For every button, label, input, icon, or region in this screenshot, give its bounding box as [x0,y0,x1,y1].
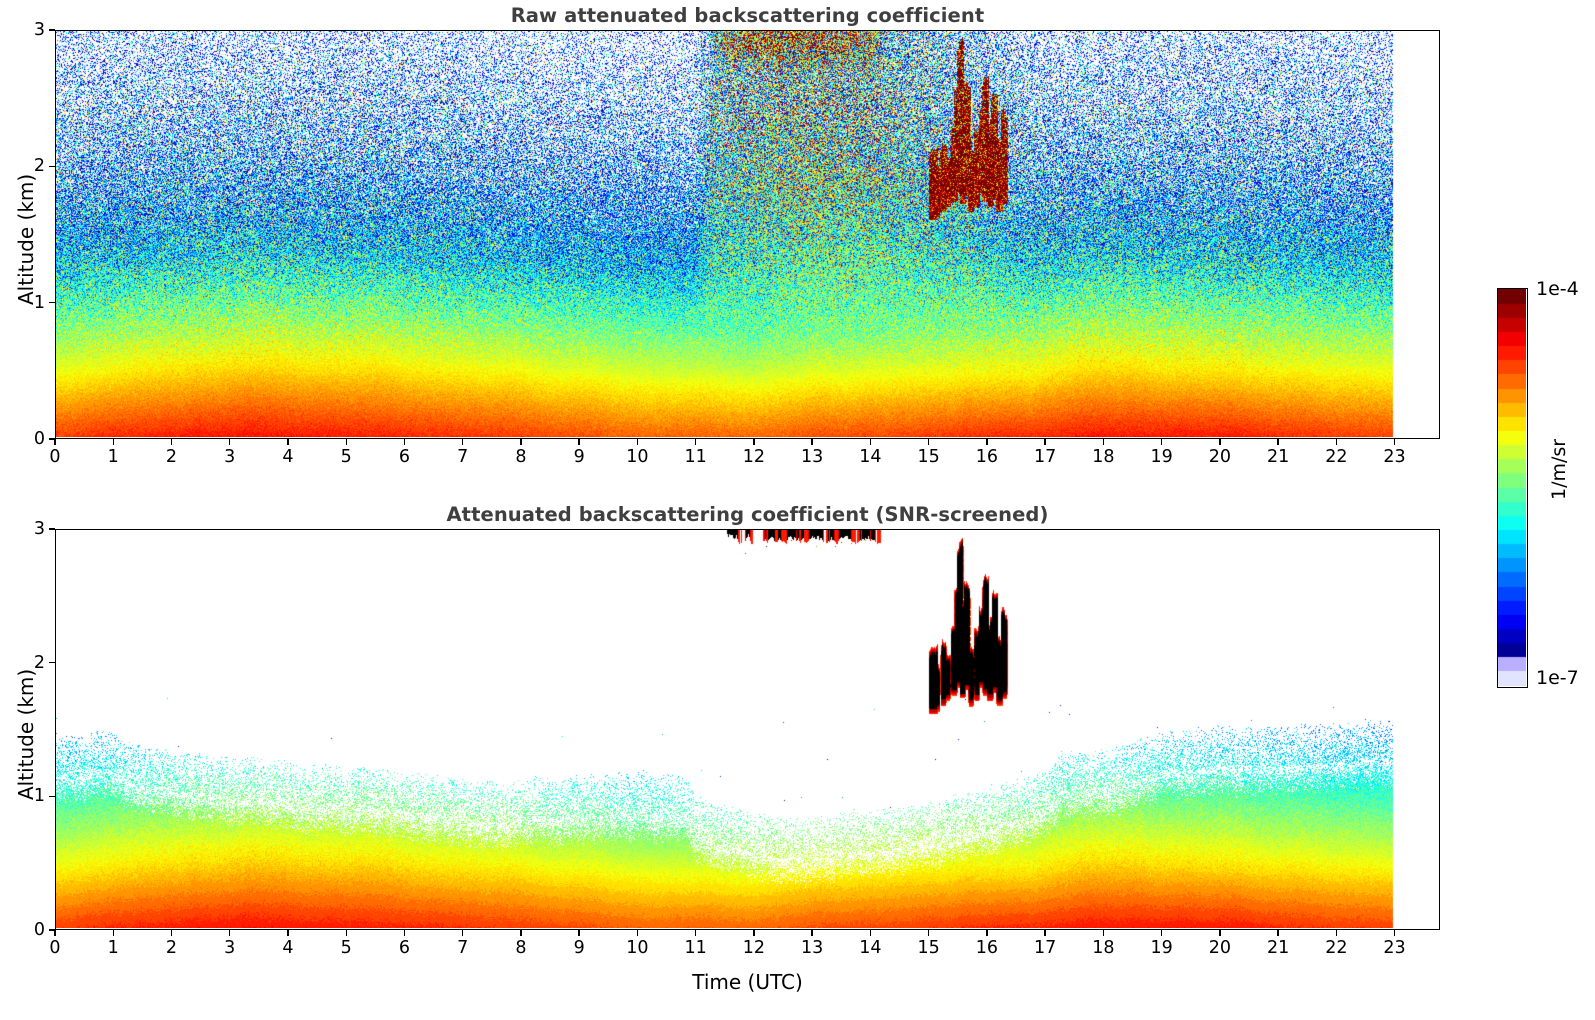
x-tick-0-2 [171,439,172,445]
x-ticklabel-0-6: 6 [399,447,410,467]
x-ticklabel-0-12: 12 [743,447,765,467]
x-tick-1-14 [870,930,871,936]
y-ticklabel-1-2: 2 [21,653,45,673]
x-tick-1-6 [404,930,405,936]
y-ticklabel-0-1: 1 [21,293,45,313]
x-tick-1-16 [986,930,987,936]
y-ticklabel-0-2: 2 [21,156,45,176]
x-tick-1-5 [346,930,347,936]
x-tick-1-7 [462,930,463,936]
x-ticklabel-0-0: 0 [49,447,60,467]
x-tick-0-16 [986,439,987,445]
x-ticklabel-0-22: 22 [1325,447,1347,467]
y-axis-label-bottom: Altitude (km) [14,669,38,800]
x-tick-1-17 [1044,930,1045,936]
raw-backscatter-heatmap [56,31,1438,437]
x-ticklabel-1-1: 1 [108,938,119,958]
x-ticklabel-1-21: 21 [1267,938,1289,958]
x-tick-0-5 [346,439,347,445]
x-ticklabel-1-19: 19 [1150,938,1172,958]
x-tick-0-15 [928,439,929,445]
x-tick-1-1 [113,930,114,936]
y-tick-1-3 [49,528,55,529]
x-tick-0-21 [1277,439,1278,445]
x-tick-1-0 [54,930,55,936]
screened-backscatter-plot[interactable] [55,529,1440,930]
x-ticklabel-1-22: 22 [1325,938,1347,958]
x-tick-1-18 [1103,930,1104,936]
x-ticklabel-0-5: 5 [341,447,352,467]
x-ticklabel-1-3: 3 [224,938,235,958]
x-axis-label: Time (UTC) [55,970,1440,994]
x-tick-0-18 [1103,439,1104,445]
x-tick-0-13 [811,439,812,445]
x-tick-1-21 [1277,930,1278,936]
x-tick-1-23 [1394,930,1395,936]
x-ticklabel-0-18: 18 [1092,447,1114,467]
x-tick-0-14 [870,439,871,445]
x-ticklabel-1-11: 11 [685,938,707,958]
x-ticklabel-0-23: 23 [1383,447,1405,467]
x-ticklabel-1-15: 15 [917,938,939,958]
x-tick-0-22 [1336,439,1337,445]
x-ticklabel-1-6: 6 [399,938,410,958]
x-ticklabel-0-8: 8 [515,447,526,467]
x-tick-0-1 [113,439,114,445]
y-tick-1-2 [49,662,55,663]
colorbar-min-label: 1e-7 [1536,667,1579,689]
x-ticklabel-0-16: 16 [976,447,998,467]
x-ticklabel-0-1: 1 [108,447,119,467]
x-tick-1-15 [928,930,929,936]
x-ticklabel-0-4: 4 [282,447,293,467]
x-ticklabel-1-4: 4 [282,938,293,958]
x-ticklabel-1-9: 9 [574,938,585,958]
x-tick-0-8 [520,439,521,445]
x-ticklabel-1-5: 5 [341,938,352,958]
panel-title-raw: Raw attenuated backscattering coefficien… [55,4,1440,27]
x-tick-0-10 [637,439,638,445]
lidar-backscatter-figure: Raw attenuated backscattering coefficien… [0,0,1595,1020]
x-ticklabel-1-12: 12 [743,938,765,958]
y-tick-0-3 [49,29,55,30]
x-ticklabel-0-10: 10 [626,447,648,467]
x-tick-0-6 [404,439,405,445]
x-ticklabel-1-10: 10 [626,938,648,958]
x-ticklabel-1-16: 16 [976,938,998,958]
x-tick-1-13 [811,930,812,936]
x-ticklabel-0-19: 19 [1150,447,1172,467]
x-ticklabel-1-0: 0 [49,938,60,958]
x-ticklabel-0-2: 2 [166,447,177,467]
x-tick-1-9 [578,930,579,936]
x-tick-0-11 [695,439,696,445]
colorbar[interactable] [1497,288,1528,688]
y-ticklabel-1-0: 0 [21,920,45,940]
x-tick-0-23 [1394,439,1395,445]
y-ticklabel-1-3: 3 [21,519,45,539]
x-ticklabel-0-15: 15 [917,447,939,467]
panel-title-screened: Attenuated backscattering coefficient (S… [55,503,1440,526]
x-tick-0-7 [462,439,463,445]
x-ticklabel-0-20: 20 [1209,447,1231,467]
x-tick-0-17 [1044,439,1045,445]
x-tick-1-10 [637,930,638,936]
x-tick-0-12 [753,439,754,445]
x-ticklabel-1-20: 20 [1209,938,1231,958]
x-ticklabel-1-14: 14 [859,938,881,958]
x-ticklabel-0-14: 14 [859,447,881,467]
y-ticklabel-0-3: 3 [21,20,45,40]
x-tick-1-19 [1161,930,1162,936]
colorbar-max-label: 1e-4 [1536,278,1579,300]
x-tick-0-20 [1219,439,1220,445]
x-tick-1-22 [1336,930,1337,936]
y-tick-1-1 [49,796,55,797]
colorbar-unit-label: 1/m/sr [1548,439,1570,500]
x-tick-1-4 [287,930,288,936]
x-tick-0-9 [578,439,579,445]
x-tick-0-19 [1161,439,1162,445]
y-tick-1-0 [49,929,55,930]
x-tick-1-3 [229,930,230,936]
x-ticklabel-0-3: 3 [224,447,235,467]
x-tick-1-20 [1219,930,1220,936]
x-ticklabel-0-13: 13 [801,447,823,467]
x-ticklabel-1-18: 18 [1092,938,1114,958]
x-tick-1-8 [520,930,521,936]
y-tick-0-1 [49,302,55,303]
x-ticklabel-1-17: 17 [1034,938,1056,958]
y-tick-0-0 [49,438,55,439]
y-ticklabel-1-1: 1 [21,786,45,806]
x-ticklabel-0-7: 7 [457,447,468,467]
y-ticklabel-0-0: 0 [21,429,45,449]
y-axis-label-top: Altitude (km) [14,174,38,305]
x-tick-0-4 [287,439,288,445]
x-tick-0-0 [54,439,55,445]
x-tick-1-2 [171,930,172,936]
x-tick-0-3 [229,439,230,445]
x-ticklabel-0-17: 17 [1034,447,1056,467]
x-ticklabel-0-11: 11 [685,447,707,467]
x-ticklabel-1-7: 7 [457,938,468,958]
x-tick-1-11 [695,930,696,936]
x-ticklabel-1-13: 13 [801,938,823,958]
y-tick-0-2 [49,166,55,167]
x-ticklabel-1-2: 2 [166,938,177,958]
x-ticklabel-1-8: 8 [515,938,526,958]
x-ticklabel-0-9: 9 [574,447,585,467]
screened-backscatter-heatmap [56,530,1438,928]
raw-backscatter-plot[interactable] [55,30,1440,439]
colorbar-gradient [1498,289,1526,686]
x-tick-1-12 [753,930,754,936]
x-ticklabel-1-23: 23 [1383,938,1405,958]
x-ticklabel-0-21: 21 [1267,447,1289,467]
